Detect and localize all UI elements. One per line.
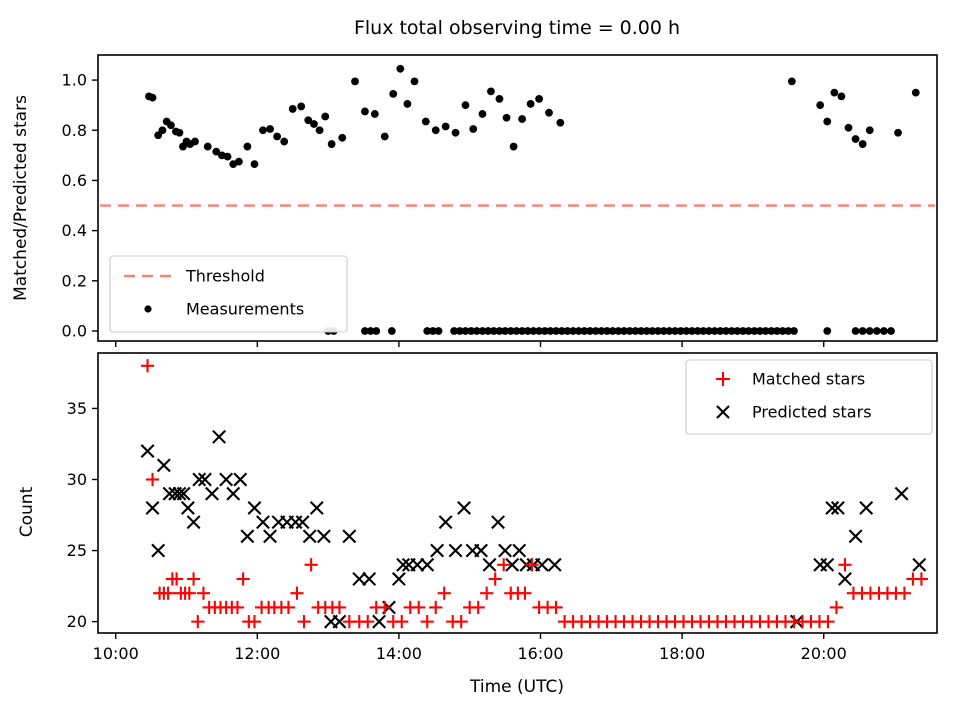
measurement-point [176, 129, 184, 137]
measurement-point [396, 65, 404, 73]
measurement-point [328, 140, 336, 148]
measurement-point-zero [852, 327, 860, 335]
measurement-point [310, 120, 318, 128]
measurement-point [838, 92, 846, 100]
y-tick-label: 1.0 [62, 71, 87, 90]
top-y-axis-label: Matched/Predicted stars [11, 95, 31, 301]
x-tick-label: 12:00 [234, 644, 280, 663]
legend-label-predicted-stars: Predicted stars [752, 403, 872, 422]
measurement-point [389, 90, 397, 98]
measurement-point [816, 101, 824, 109]
measurement-point [149, 94, 157, 102]
measurement-point-zero [887, 327, 895, 335]
measurement-point [852, 135, 860, 143]
measurement-point [510, 143, 518, 151]
measurement-point-zero [866, 327, 874, 335]
measurement-point-zero [372, 327, 380, 335]
measurement-point [273, 133, 281, 141]
measurement-point [371, 110, 379, 118]
x-axis-label: Time (UTC) [469, 677, 564, 697]
y-tick-label: 35 [67, 399, 87, 418]
measurement-point [321, 113, 329, 121]
legend-label-matched-stars: Matched stars [752, 370, 865, 389]
x-tick-label: 14:00 [376, 644, 422, 663]
y-tick-label: 0.8 [62, 121, 87, 140]
measurement-point-zero [873, 327, 881, 335]
y-tick-label: 0.4 [62, 221, 87, 240]
measurement-point [462, 101, 470, 109]
measurement-point-zero [435, 327, 443, 335]
measurement-point [788, 77, 796, 85]
x-tick-label: 18:00 [659, 644, 705, 663]
measurement-point [479, 110, 487, 118]
legend-label-threshold: Threshold [185, 267, 265, 286]
measurement-point [297, 103, 305, 111]
measurement-point [316, 126, 324, 134]
measurement-point [527, 100, 535, 108]
measurement-point [411, 77, 419, 85]
legend-label-measurements: Measurements [186, 300, 304, 319]
y-tick-label: 25 [67, 541, 87, 560]
measurement-point [224, 153, 232, 161]
measurement-point [518, 115, 526, 123]
y-tick-label: 0.0 [62, 321, 87, 340]
measurement-point [432, 126, 440, 134]
measurement-point [259, 126, 267, 134]
measurement-point [280, 138, 288, 146]
measurement-point [266, 125, 274, 133]
measurement-point [167, 121, 175, 129]
measurement-point [894, 129, 902, 137]
measurement-point [859, 140, 867, 148]
measurement-point [351, 77, 359, 85]
measurement-point [381, 133, 389, 141]
y-tick-label: 0.6 [62, 171, 87, 190]
measurement-point [159, 126, 167, 134]
measurement-point [251, 160, 259, 168]
measurement-point [442, 123, 450, 131]
dot-swatch-icon [144, 305, 151, 312]
measurement-point-zero [388, 327, 396, 335]
y-tick-label: 20 [67, 612, 87, 631]
measurement-point-zero [823, 327, 831, 335]
measurement-point [830, 89, 838, 97]
measurement-point [487, 87, 495, 95]
measurement-point-zero [859, 327, 867, 335]
measurement-point [912, 89, 920, 97]
measurement-point [469, 125, 477, 133]
measurement-point [235, 158, 243, 166]
measurement-point [845, 124, 853, 132]
measurement-point [243, 143, 251, 151]
measurement-point [204, 143, 212, 151]
plot-canvas: Flux total observing time = 0.00 h 0.00.… [0, 0, 960, 720]
matplotlib-figure: Flux total observing time = 0.00 h 0.00.… [0, 0, 960, 720]
measurement-point [545, 109, 553, 117]
bottom-y-axis-label: Count [17, 486, 37, 537]
page-title: Flux total observing time = 0.00 h [354, 17, 680, 39]
x-tick-label: 10:00 [93, 644, 139, 663]
x-tick-label: 20:00 [801, 644, 847, 663]
measurement-point [191, 138, 199, 146]
measurement-point [496, 95, 504, 103]
measurement-point [535, 95, 543, 103]
top-legend[interactable]: Threshold Measurements [110, 256, 347, 332]
measurement-point [452, 129, 460, 137]
measurement-point [422, 118, 430, 126]
measurement-point-zero [880, 327, 888, 335]
measurement-point [338, 134, 346, 142]
measurement-point [823, 118, 831, 126]
measurement-point [361, 108, 369, 116]
measurement-point [556, 119, 564, 127]
measurement-point [866, 126, 874, 134]
y-tick-label: 0.2 [62, 271, 87, 290]
measurement-point-zero [790, 327, 798, 335]
measurement-point [404, 100, 412, 108]
y-tick-label: 30 [67, 470, 87, 489]
measurement-point [503, 114, 511, 122]
measurement-point [289, 105, 297, 113]
bottom-legend[interactable]: Matched stars Predicted stars [686, 360, 932, 434]
x-tick-label: 16:00 [517, 644, 563, 663]
